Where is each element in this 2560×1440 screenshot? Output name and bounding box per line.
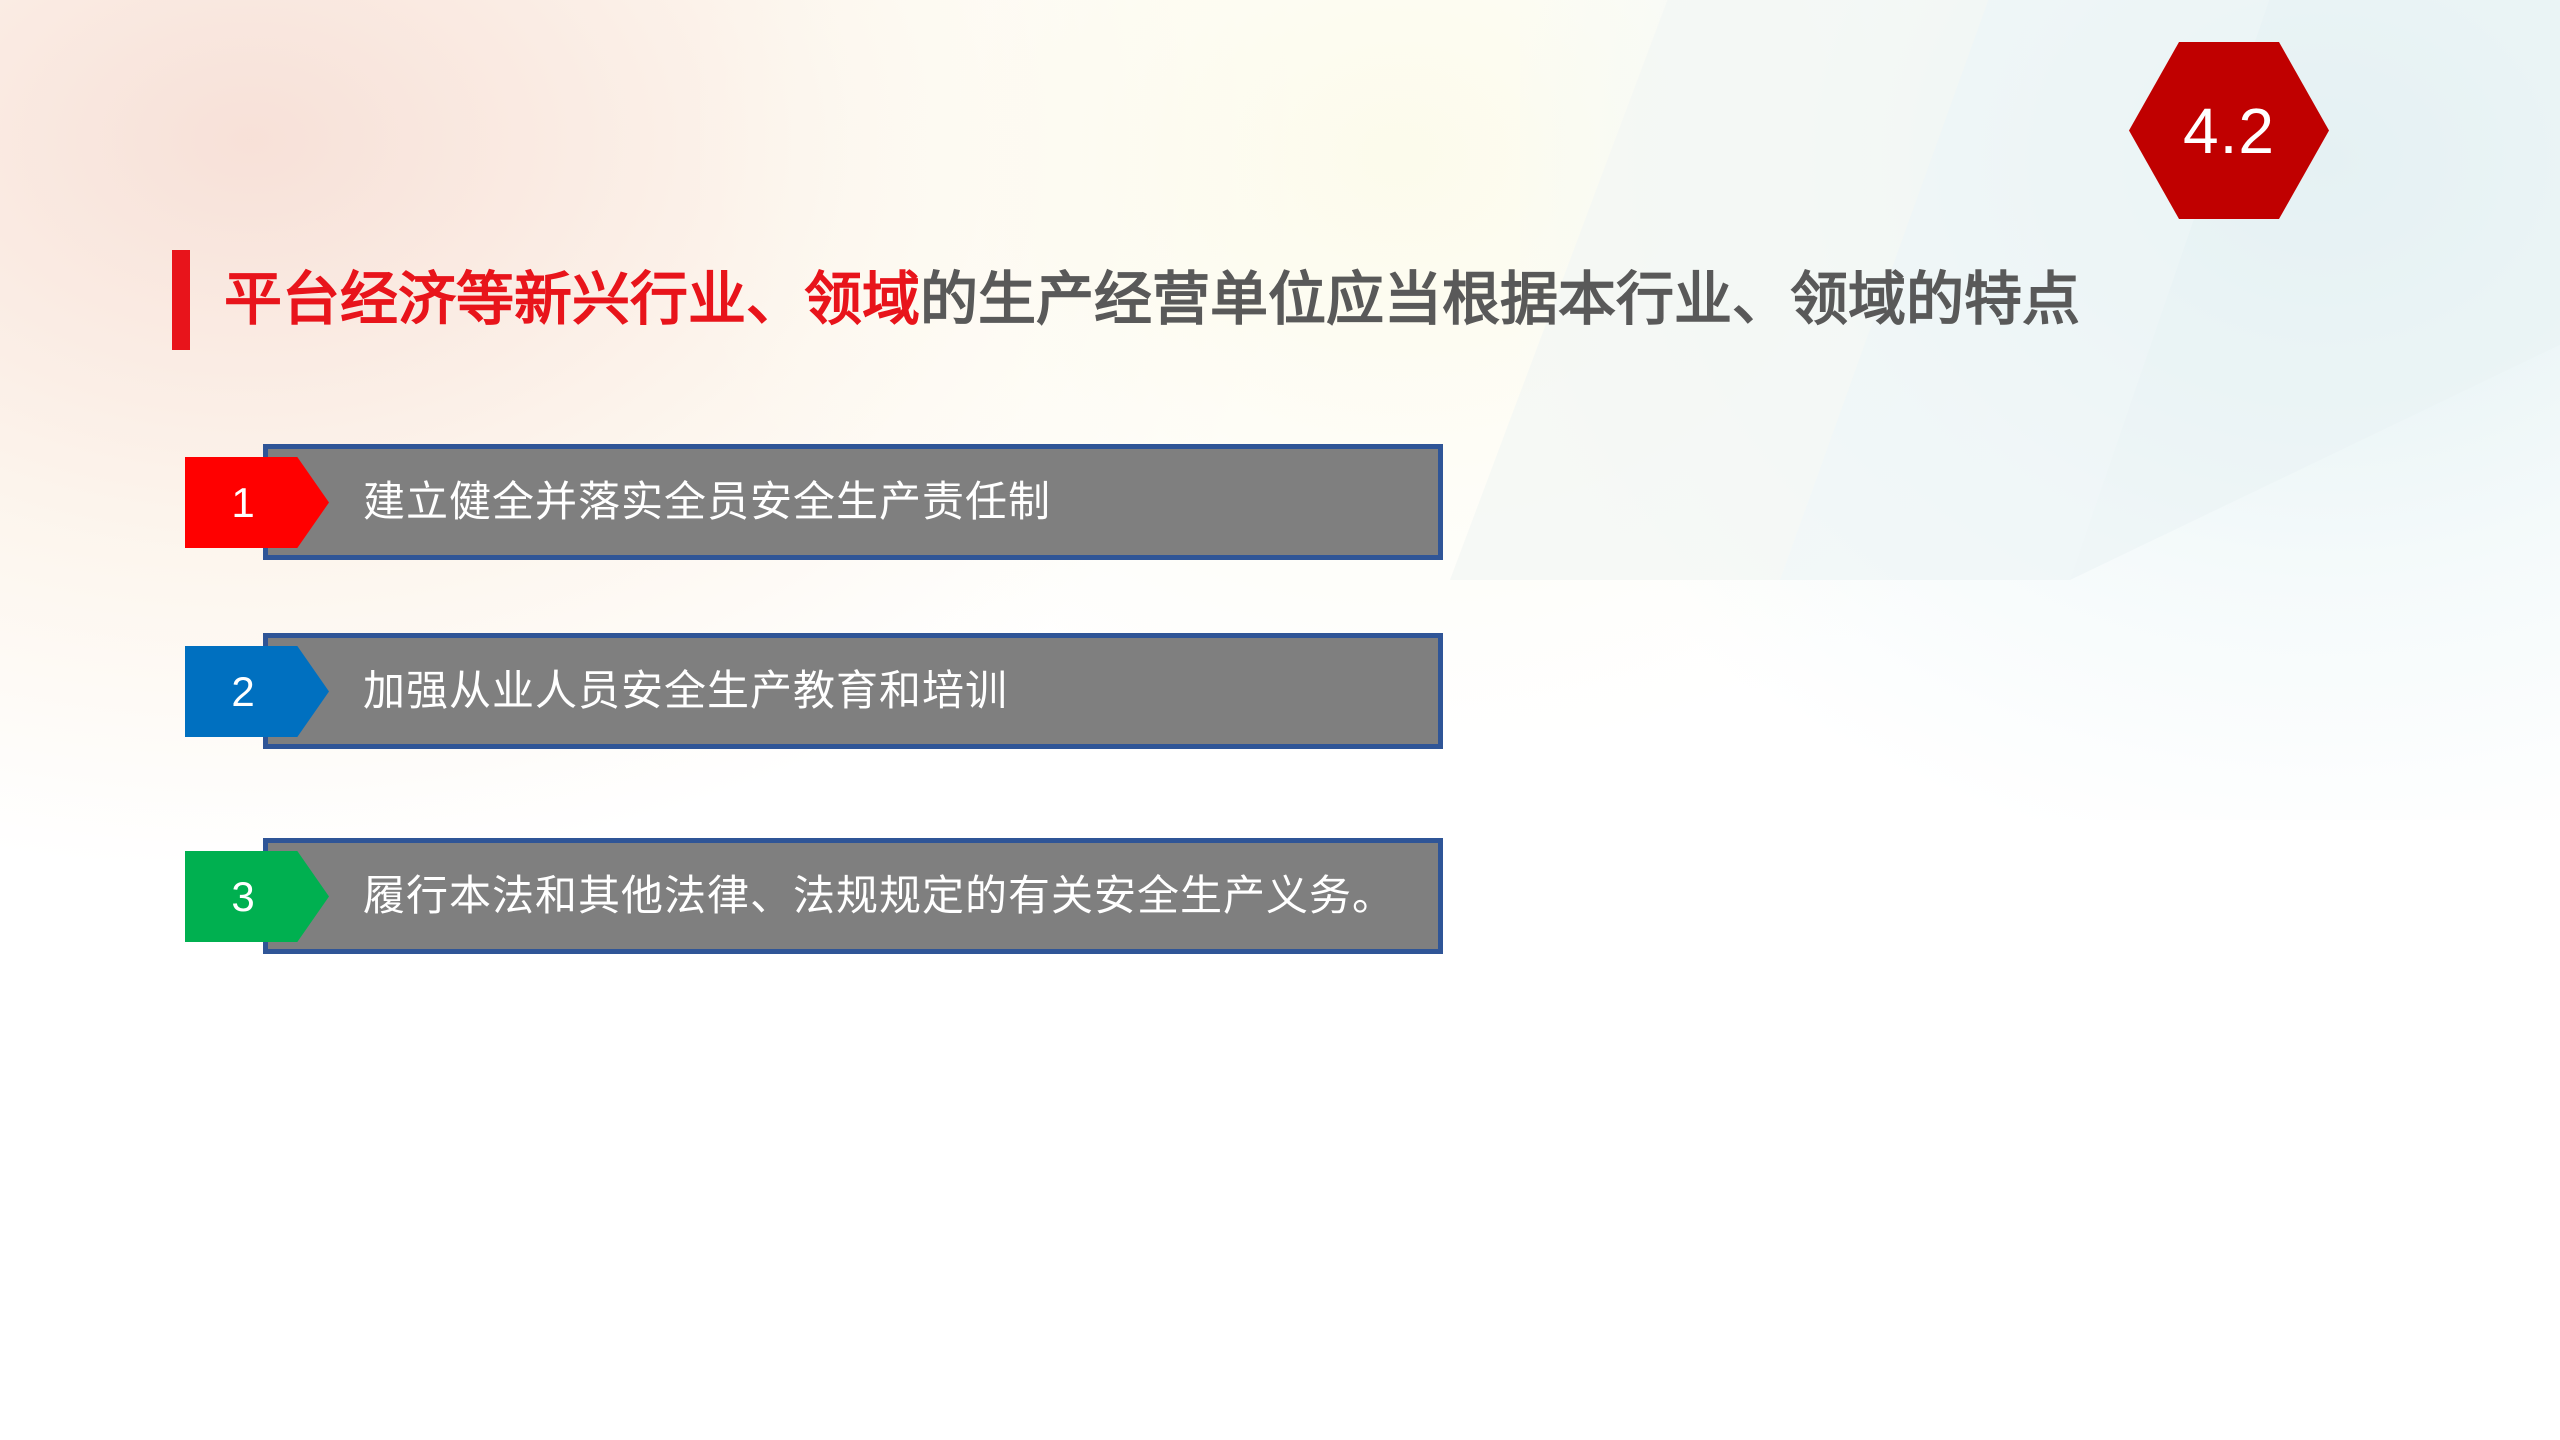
slide-canvas: 4.2 平台经济等新兴行业、领域的生产经营单位应当根据本行业、领域的特点 1 建… <box>0 0 2560 1440</box>
list-item[interactable]: 1 建立健全并落实全员安全生产责任制 <box>185 444 1443 560</box>
page-title: 平台经济等新兴行业、领域的生产经营单位应当根据本行业、领域的特点 <box>172 250 2080 350</box>
list-item[interactable]: 3 履行本法和其他法律、法规规定的有关安全生产义务。 <box>185 838 1443 954</box>
title-accent-bar <box>172 250 190 350</box>
section-number-badge: 4.2 <box>2129 42 2329 219</box>
background-tint-middle <box>700 0 2100 730</box>
title-highlight-text: 平台经济等新兴行业、领域 <box>224 267 920 332</box>
step-number-label: 2 <box>185 671 299 713</box>
step-number-label: 3 <box>185 876 299 918</box>
list-item[interactable]: 2 加强从业人员安全生产教育和培训 <box>185 633 1443 749</box>
title-rest-text: 的生产经营单位应当根据本行业、领域的特点 <box>920 267 2080 332</box>
step-text-label: 加强从业人员安全生产教育和培训 <box>363 633 1008 749</box>
step-number-label: 1 <box>185 482 299 524</box>
section-number-label: 4.2 <box>2129 42 2329 219</box>
title-text: 平台经济等新兴行业、领域的生产经营单位应当根据本行业、领域的特点 <box>224 270 2080 331</box>
step-text-label: 履行本法和其他法律、法规规定的有关安全生产义务。 <box>363 838 1395 954</box>
background-tint-right <box>1520 0 2560 820</box>
step-text-label: 建立健全并落实全员安全生产责任制 <box>363 444 1051 560</box>
